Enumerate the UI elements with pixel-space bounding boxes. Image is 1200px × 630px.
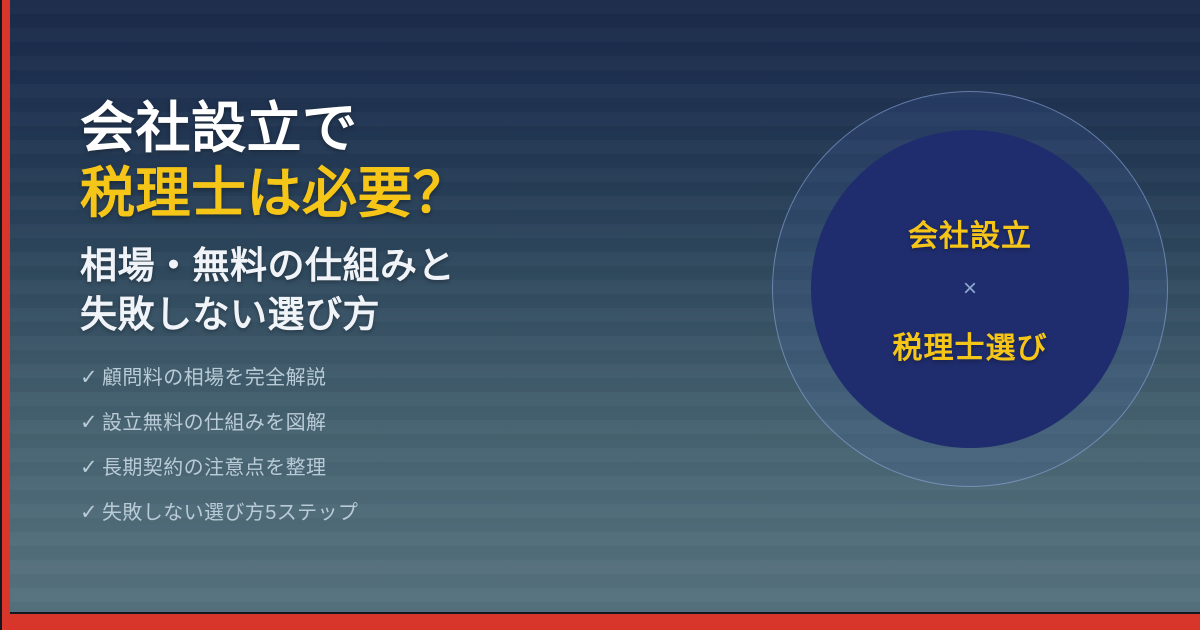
headline-line-1: 会社設立で — [80, 96, 700, 161]
badge-bottom-label: 税理士選び — [893, 323, 1048, 367]
headline-line-2: 税理士は必要？ — [80, 161, 700, 226]
list-item: ✓ 設立無料の仕組みを図解 — [80, 412, 700, 433]
multiply-icon: × — [963, 277, 977, 301]
circular-badge: 会社設立 × 税理士選び — [772, 91, 1168, 487]
check-icon: ✓ — [80, 367, 102, 388]
list-item-label: 設立無料の仕組みを図解 — [102, 413, 326, 433]
subheadline: 相場・無料の仕組みと 失敗しない選び方 — [80, 242, 700, 340]
list-item: ✓ 顧問料の相場を完全解説 — [80, 367, 700, 388]
check-icon: ✓ — [80, 412, 102, 433]
list-item: ✓ 長期契約の注意点を整理 — [80, 457, 700, 478]
left-accent-bar — [0, 0, 10, 630]
check-icon: ✓ — [80, 502, 102, 523]
subheadline-line-1: 相場・無料の仕組みと — [80, 242, 700, 291]
list-item: ✓ 失敗しない選び方5ステップ — [80, 502, 700, 523]
text-column: 会社設立で 税理士は必要？ 相場・無料の仕組みと 失敗しない選び方 ✓ 顧問料の… — [80, 96, 700, 547]
list-item-label: 顧問料の相場を完全解説 — [102, 368, 326, 388]
circular-badge-inner: 会社設立 × 税理士選び — [811, 130, 1129, 448]
subheadline-line-2: 失敗しない選び方 — [80, 291, 700, 340]
bottom-accent-bar — [0, 612, 1200, 630]
feature-bullet-list: ✓ 顧問料の相場を完全解説 ✓ 設立無料の仕組みを図解 ✓ 長期契約の注意点を整… — [80, 367, 700, 523]
list-item-label: 長期契約の注意点を整理 — [102, 458, 326, 478]
list-item-label: 失敗しない選び方5ステップ — [102, 503, 358, 523]
banner-canvas: 会社設立で 税理士は必要？ 相場・無料の仕組みと 失敗しない選び方 ✓ 顧問料の… — [0, 0, 1200, 630]
check-icon: ✓ — [80, 457, 102, 478]
badge-top-label: 会社設立 — [908, 211, 1032, 255]
